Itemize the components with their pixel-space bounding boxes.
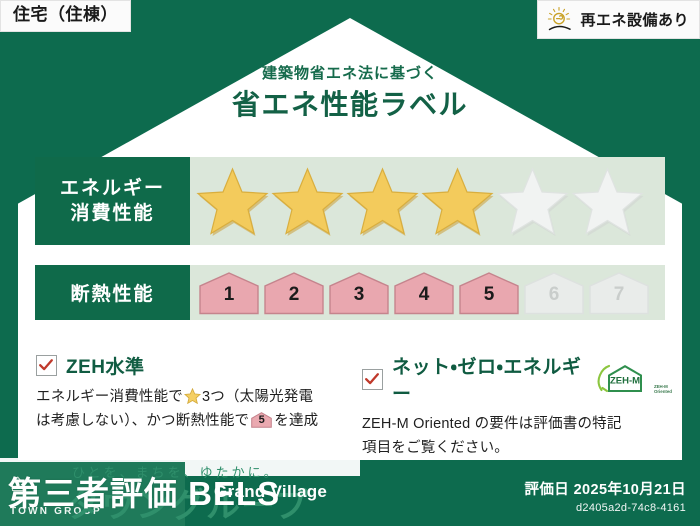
insulation-level-number: 4 [393,285,455,304]
renewable-badge-label: 再エネ設備あり [580,9,689,30]
energy-label-line2: 消費性能 [70,201,154,226]
zeh-m-caption-line2: Oriented [654,389,672,394]
svg-text:ZEH-M: ZEH-M [610,376,640,387]
energy-star-scale [190,157,665,245]
insulation-house-filled: 1 [198,271,260,315]
star-icon-filled [421,166,494,236]
star-rating [196,166,644,236]
check-icon [362,369,383,390]
insulation-house-filled: 5 [458,271,520,315]
evaluation-id: d2405a2d-74c8-4161 [524,502,686,514]
zeh-standard-heading: ZEH水準 [36,352,348,379]
star-icon [184,388,201,404]
zeh-standard-section: ZEH水準 エネルギー消費性能で3つ（太陽光発電 は考慮しない）、かつ断熱性能で… [36,352,348,434]
net-zero-heading: ネット・ゼロ・エネルギー ZEH-M ZEH-M Oriented [362,352,672,406]
sun-icon [546,6,574,32]
star-icon-filled [271,166,344,236]
insulation-house-empty: 6 [523,271,585,315]
insulation-rating: 1234567 [198,271,650,315]
net-zero-body-line2: 項目をご覧ください。 [362,440,509,456]
net-zero-energy-section: ネット・ゼロ・エネルギー ZEH-M ZEH-M Oriented ZEH-M … [362,352,672,461]
insulation-level-number: 6 [523,285,585,304]
net-zero-title: ネット・ゼロ・エネルギー [392,352,582,406]
house-level-icon: 5 [251,412,272,428]
house-type-label: 住宅（住棟） [13,5,118,24]
zeh-body-part3: は考慮しない）、かつ断熱性能で [36,413,249,429]
insulation-level-number: 2 [263,285,325,304]
page-title: 省エネ性能ラベル [0,83,700,123]
zeh-m-logo: ZEH-M ZEH-M Oriented [595,364,672,394]
energy-performance-label: エネルギー 消費性能 [35,157,190,245]
zeh-body-part2: 3つ（太陽光発電 [202,389,313,405]
insulation-level-number: 5 [458,285,520,304]
house-type-tag: 住宅（住棟） [0,0,131,32]
star-icon-filled [196,166,269,236]
zeh-standard-body: エネルギー消費性能で3つ（太陽光発電 は考慮しない）、かつ断熱性能で5を達成 [36,386,348,434]
insulation-performance-label: 断熱性能 [35,265,190,320]
insulation-house-filled: 2 [263,271,325,315]
evaluation-date: 評価日 2025年10月21日 [524,478,686,499]
zeh-m-logo-caption: ZEH-M Oriented [654,384,672,394]
energy-performance-row: エネルギー 消費性能 [35,157,665,245]
insulation-house-filled: 4 [393,271,455,315]
evaluation-footer: 評価日 2025年10月21日 d2405a2d-74c8-4161 [524,478,686,514]
insulation-level-number: 7 [588,285,650,304]
star-icon-empty [571,166,644,236]
check-icon [36,355,57,376]
zeh-body-part1: エネルギー消費性能で [36,389,183,405]
star-icon-empty [496,166,569,236]
house-level-number: 5 [251,412,272,428]
zeh-standard-title: ZEH水準 [66,352,145,379]
insulation-house-empty: 7 [588,271,650,315]
net-zero-body-line1: ZEH-M Oriented の要件は評価書の特記 [362,416,622,432]
insulation-house-filled: 3 [328,271,390,315]
insulation-performance-row: 断熱性能 1234567 [35,265,665,320]
label-subtitle: 建築物省エネ法に基づく [0,62,700,83]
insulation-level-number: 3 [328,285,390,304]
insulation-scale: 1234567 [190,265,665,320]
renewable-energy-badge: 再エネ設備あり [537,0,700,39]
insulation-label-text: 断熱性能 [70,279,154,306]
zeh-body-part4: を達成 [274,413,318,429]
star-icon-filled [346,166,419,236]
net-zero-body: ZEH-M Oriented の要件は評価書の特記 項目をご覧ください。 [362,413,672,461]
energy-label-line1: エネルギー [60,176,165,201]
insulation-level-number: 1 [198,285,260,304]
energy-label-card: 住宅（住棟） 再エネ設備あり 建築物省エネ法に基づく 省エネ性能ラベル エネルギ… [0,0,700,526]
